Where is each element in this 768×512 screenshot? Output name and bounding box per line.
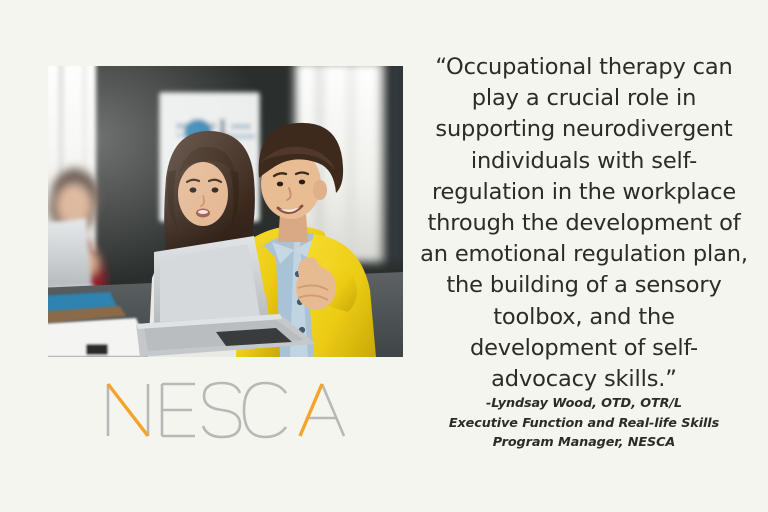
- nesca-logo-mark: [100, 378, 352, 442]
- attribution-role: Executive Function and Real-life Skills: [416, 414, 752, 434]
- quote-text: “Occupational therapy can play a crucial…: [416, 52, 752, 395]
- office-photo-illustration: [48, 66, 403, 357]
- attribution-org: Program Manager, NESCA: [416, 433, 752, 453]
- attribution-name: -Lyndsay Wood, OTD, OTR/L: [416, 394, 752, 414]
- attribution-block: -Lyndsay Wood, OTD, OTR/L Executive Func…: [416, 394, 752, 453]
- slide-canvas: “Occupational therapy can play a crucial…: [0, 0, 768, 512]
- nesca-logo: [100, 378, 352, 442]
- quote-block: “Occupational therapy can play a crucial…: [416, 52, 752, 395]
- office-photo: [48, 66, 403, 357]
- photo-light-glow: [48, 66, 403, 357]
